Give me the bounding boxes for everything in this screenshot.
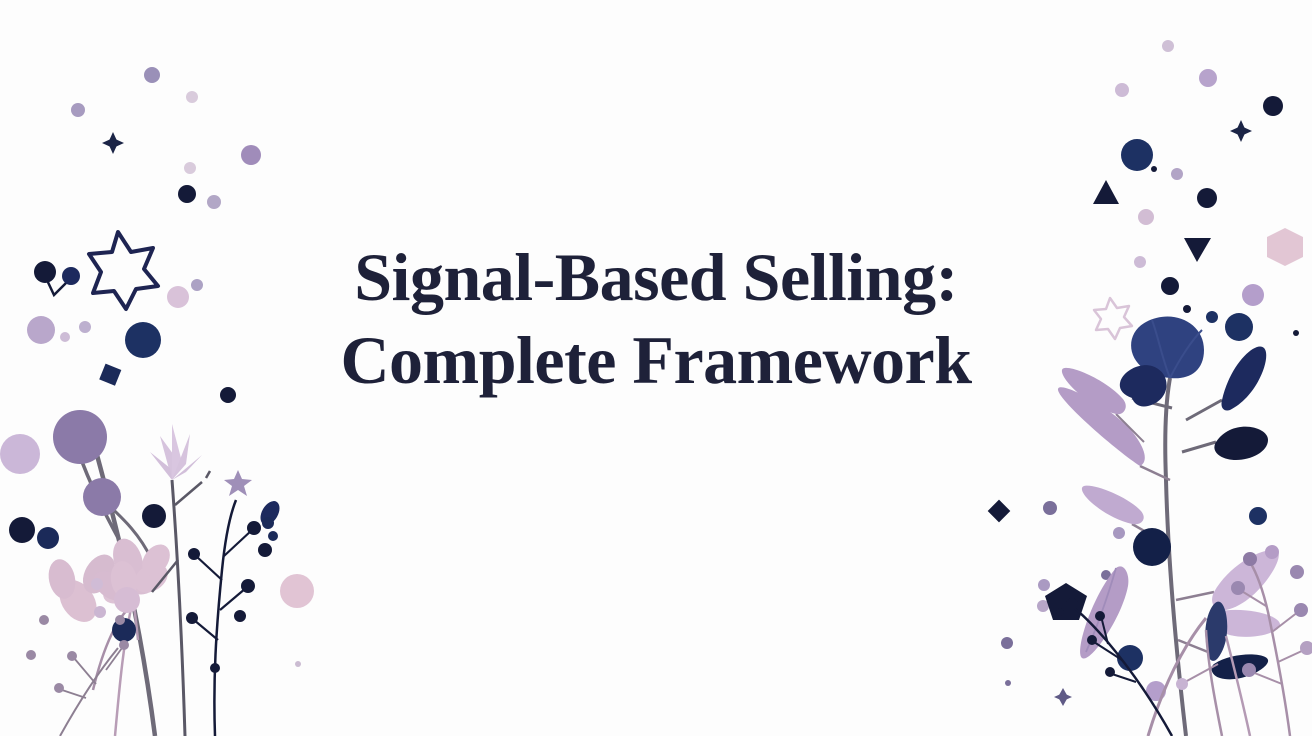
tiny-star-icon [224, 470, 252, 496]
title-line-1: Signal-Based Selling: [0, 236, 1312, 319]
pink-circle-bottom [280, 574, 314, 608]
lavender-circle [0, 434, 40, 474]
lavender-leaf-4 [1080, 566, 1128, 658]
circle-flower-stems-left [0, 410, 166, 736]
navy-circle-right [1133, 528, 1171, 566]
navy-berry-branch-left [186, 498, 283, 736]
sparkle-diamond-right-1 [1236, 120, 1246, 142]
purple-circle-medium [83, 478, 121, 516]
square-diamond-right [988, 500, 1011, 523]
lavender-leaf-3 [1082, 486, 1144, 525]
navy-leaf-3 [1214, 427, 1268, 460]
pink-flower-left [150, 424, 210, 736]
mauve-berry-sprig-right [1231, 545, 1312, 736]
pink-leaf-sprig-2 [108, 539, 176, 736]
navy-leaf-small-1 [1205, 602, 1227, 661]
title-slide: Signal-Based Selling: Complete Framework [0, 0, 1312, 736]
purple-circle-large [53, 410, 107, 464]
pentagon-icon [1045, 583, 1087, 620]
mauve-sprig-bottomleft [26, 578, 129, 736]
lavender-leaf-6 [1211, 610, 1280, 637]
sparkle-diamond-icon [108, 132, 118, 154]
lavender-leaf-5 [1212, 550, 1279, 610]
mauve-stems-bottom-right [1148, 618, 1250, 736]
pink-leaf-sprig-mid [89, 535, 172, 640]
triangle-up-icon [1093, 180, 1119, 204]
page-title: Signal-Based Selling: Complete Framework [0, 236, 1312, 402]
title-line-2: Complete Framework [0, 319, 1312, 402]
sparkle-diamond-right-2 [1058, 688, 1068, 706]
dark-thin-branch-right [1056, 598, 1172, 736]
navy-leaf-small-2 [1212, 654, 1269, 679]
pink-leaf-sprig-left [45, 549, 141, 690]
